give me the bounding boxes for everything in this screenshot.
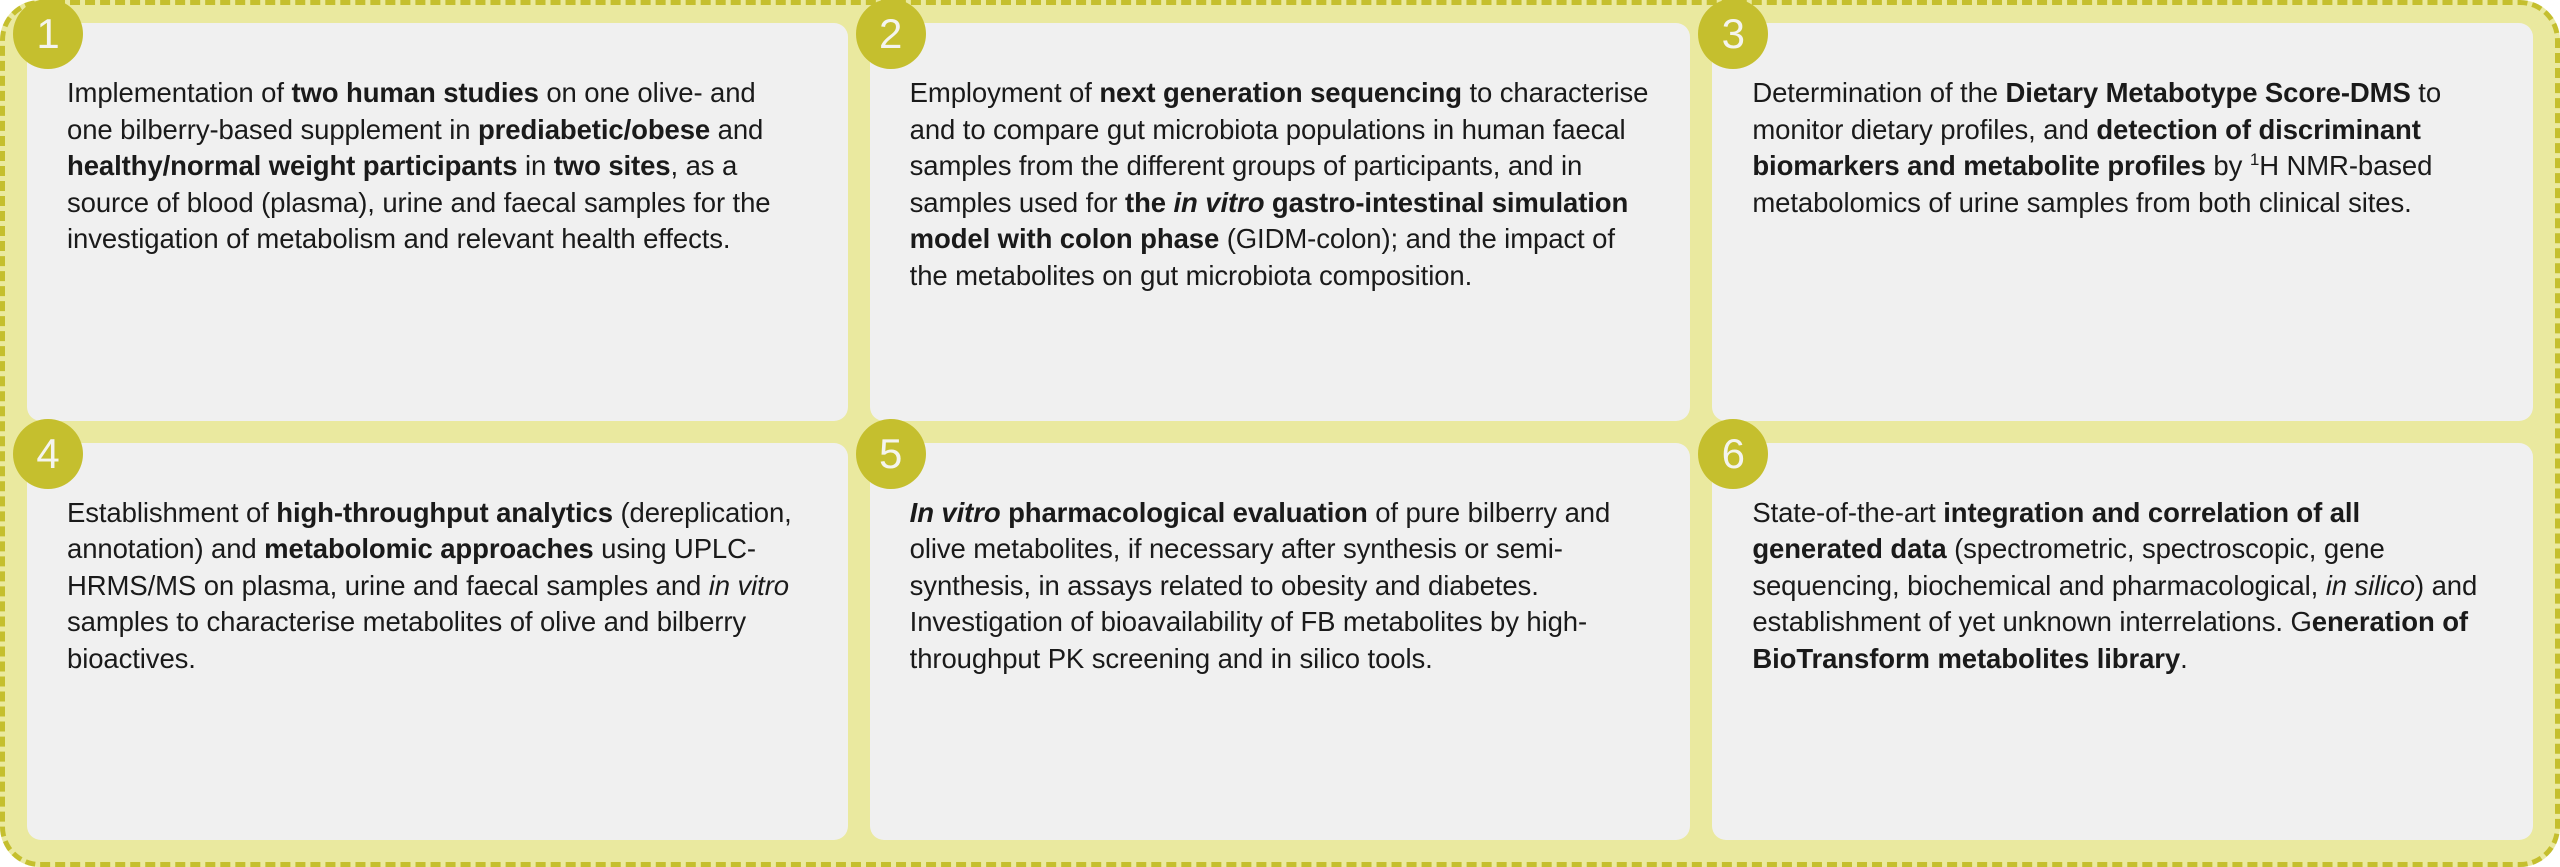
objective-description: In vitro pharmacological evaluation of p… xyxy=(910,495,1651,678)
objective-number-badge: 6 xyxy=(1698,419,1768,489)
objective-description: Implementation of two human studies on o… xyxy=(67,75,808,258)
objective-number-badge: 4 xyxy=(13,419,83,489)
objective-number-badge: 1 xyxy=(13,0,83,69)
objective-description: State-of-the-art integration and correla… xyxy=(1752,495,2493,678)
objective-description: Determination of the Dietary Metabotype … xyxy=(1752,75,2493,221)
objective-card: 3Determination of the Dietary Metabotype… xyxy=(1712,23,2533,421)
objective-card: 1Implementation of two human studies on … xyxy=(27,23,848,421)
objectives-grid: 1Implementation of two human studies on … xyxy=(27,23,2533,840)
objective-number-badge: 5 xyxy=(856,419,926,489)
objective-description: Establishment of high-throughput analyti… xyxy=(67,495,808,678)
objective-card: 6State-of-the-art integration and correl… xyxy=(1712,443,2533,841)
objective-card: 4Establishment of high-throughput analyt… xyxy=(27,443,848,841)
objective-card: 5In vitro pharmacological evaluation of … xyxy=(870,443,1691,841)
objectives-panel: 1Implementation of two human studies on … xyxy=(0,0,2560,867)
objective-card: 2Employment of next generation sequencin… xyxy=(870,23,1691,421)
objective-number-badge: 2 xyxy=(856,0,926,69)
objective-number-badge: 3 xyxy=(1698,0,1768,69)
objective-description: Employment of next generation sequencing… xyxy=(910,75,1651,294)
